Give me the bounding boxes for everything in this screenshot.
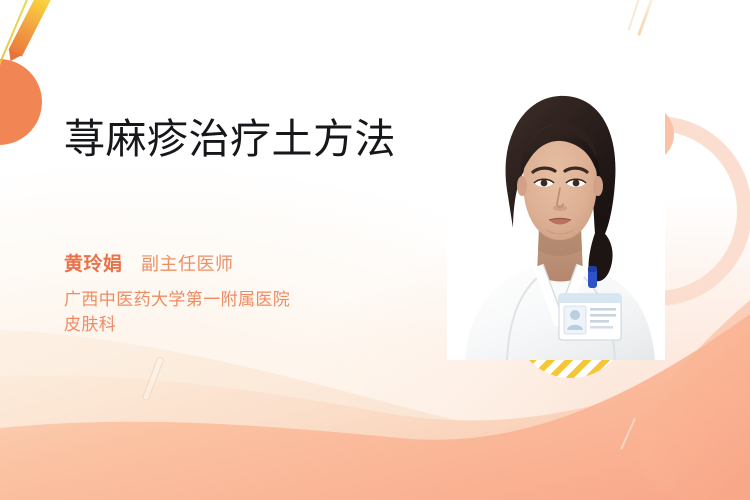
doctor-department: 皮肤科: [64, 313, 290, 338]
poster-canvas: 荨麻疹治疗土方法 黄玲娟 副主任医师 广西中医药大学第一附属医院 皮肤科: [0, 0, 750, 500]
doctor-affiliation: 广西中医药大学第一附属医院 皮肤科: [64, 288, 290, 338]
doctor-hospital: 广西中医药大学第一附属医院: [64, 288, 290, 313]
doctor-credential-line: 黄玲娟 副主任医师: [64, 249, 233, 276]
hospital-id-badge: [559, 294, 621, 340]
doctor-photo: [447, 78, 665, 360]
page-title: 荨麻疹治疗土方法: [64, 117, 396, 163]
doctor-name: 黄玲娟: [64, 254, 123, 275]
doctor-rank: 副主任医师: [141, 254, 234, 274]
